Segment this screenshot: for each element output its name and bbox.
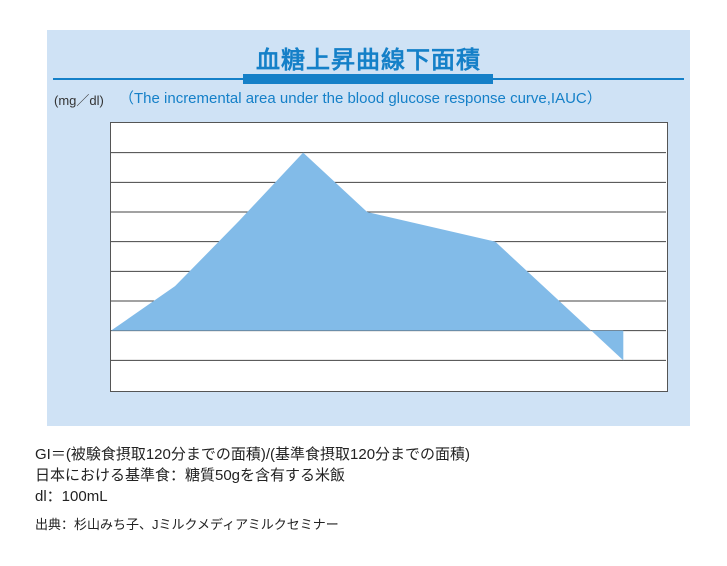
chart-page: 血糖上昇曲線下面積 (mg／dl) （The incremental area … bbox=[0, 0, 727, 566]
chart-svg bbox=[111, 123, 666, 390]
footnote-standard-meal: 日本における基準食：糖質50gを含有する米飯 bbox=[35, 465, 695, 486]
chart-subtitle: （The incremental area under the blood gl… bbox=[119, 87, 602, 108]
chart-panel: 血糖上昇曲線下面積 (mg／dl) （The incremental area … bbox=[47, 30, 690, 426]
plot-area bbox=[110, 122, 668, 392]
footnote-gi: GI＝(被験食摂取120分までの面積)/(基準食摂取120分までの面積) bbox=[35, 444, 695, 465]
y-axis-unit-label: (mg／dl) bbox=[54, 90, 104, 109]
page-title: 血糖上昇曲線下面積 bbox=[47, 40, 690, 75]
footnote-dl: dl：100mL bbox=[35, 486, 695, 507]
title-underline-bar bbox=[243, 74, 493, 84]
footnotes: GI＝(被験食摂取120分までの面積)/(基準食摂取120分までの面積) 日本に… bbox=[35, 444, 695, 535]
source-note: 出典：杉山みち子、Jミルクメディアミルクセミナー bbox=[35, 514, 695, 535]
